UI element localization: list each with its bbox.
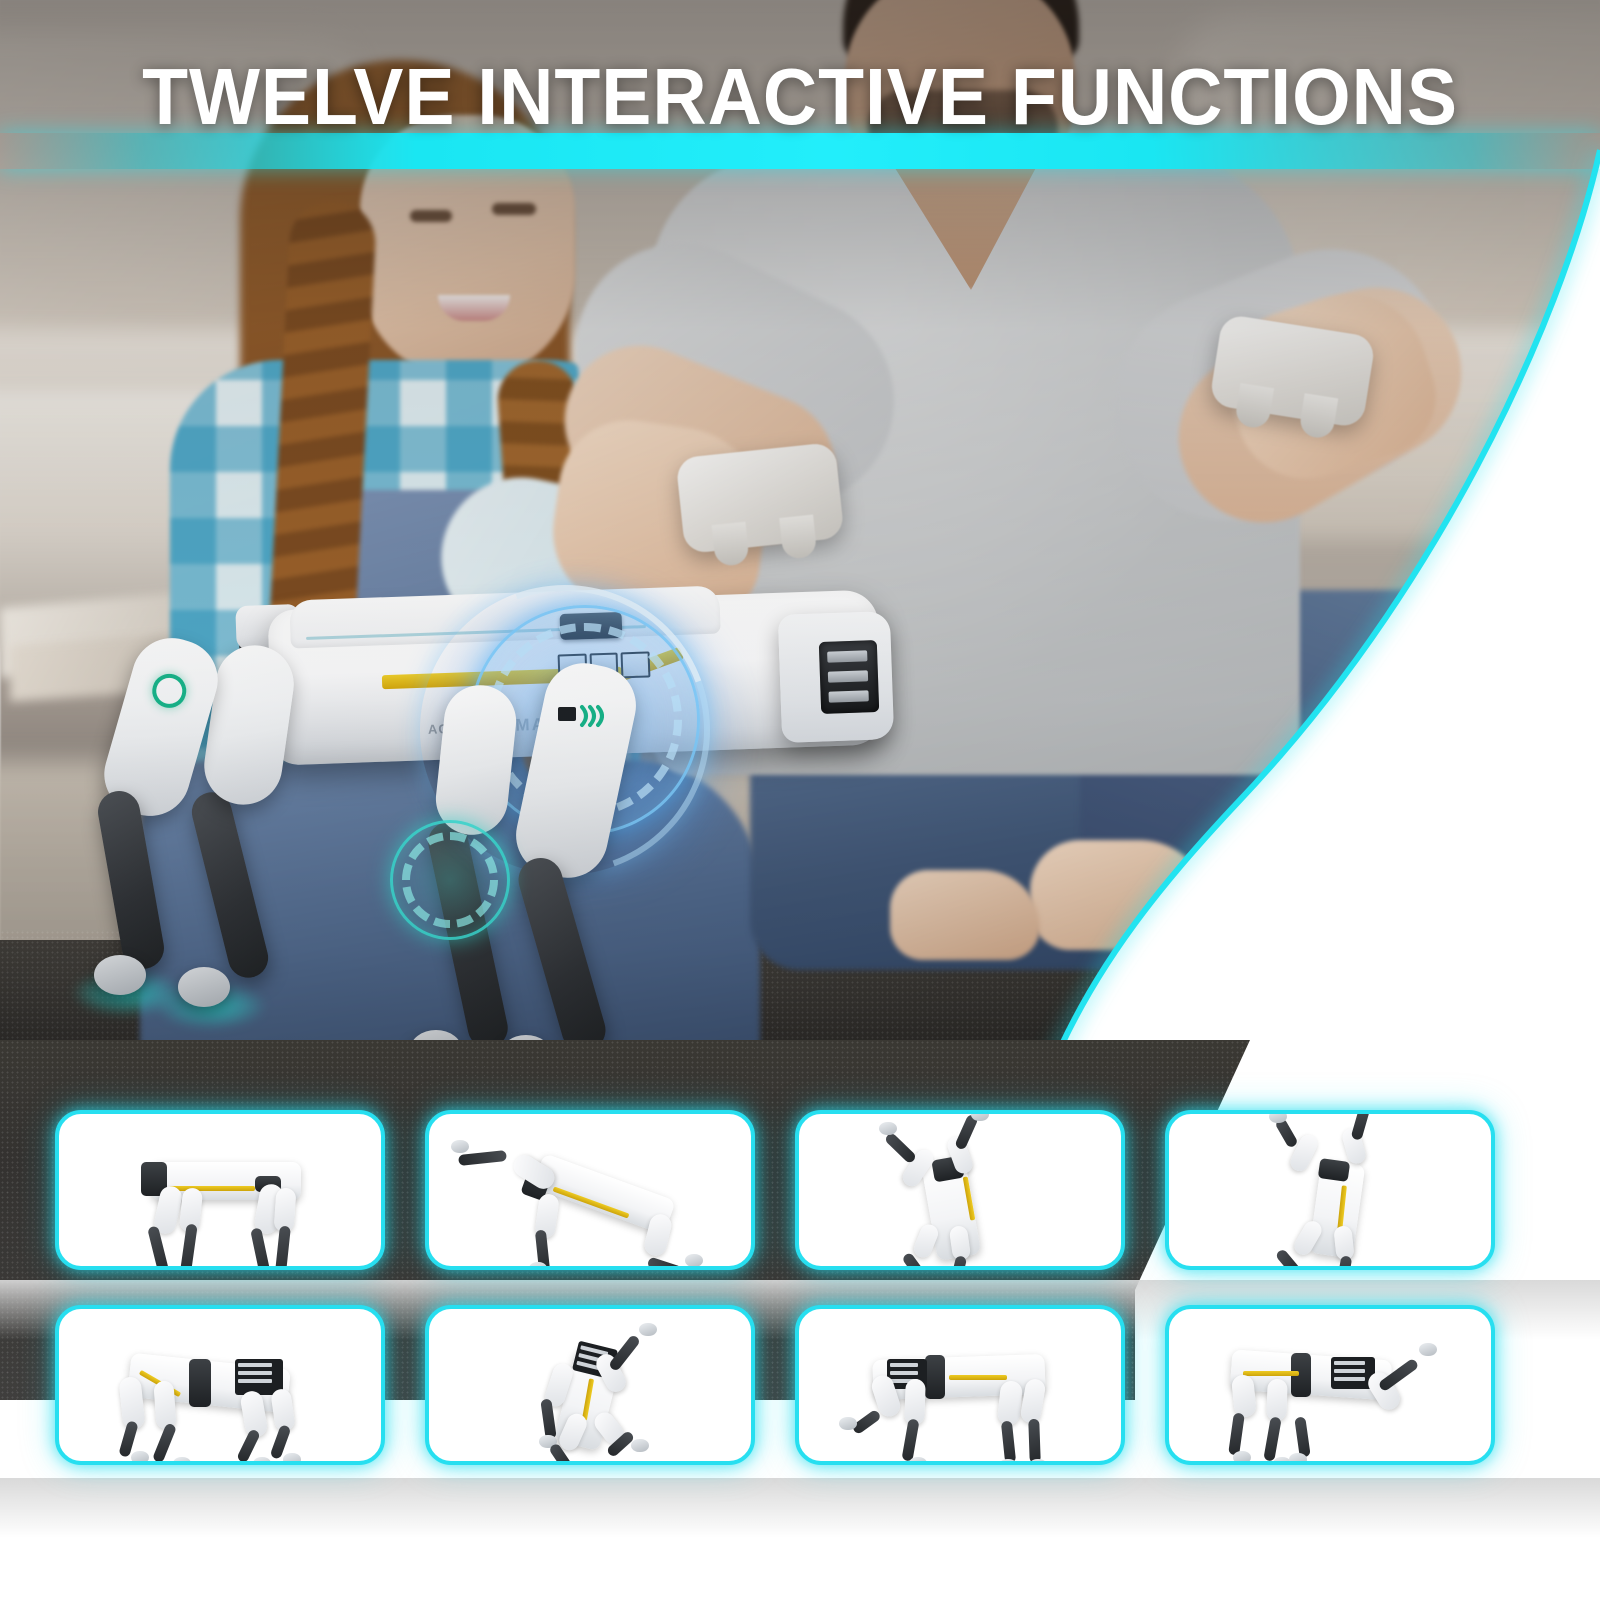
thumbnail-card-standing[interactable]: [55, 1110, 385, 1270]
thumbnail-grid: [0, 1110, 1600, 1510]
man-foot-one: [1030, 840, 1210, 950]
robot-pose-bowing: [429, 1114, 751, 1266]
thumbnail-card-rearing[interactable]: [795, 1110, 1125, 1270]
foot-front-left: [94, 955, 146, 995]
girl-eye-right: [492, 203, 536, 215]
thumbnail-card-leg-kick[interactable]: [1165, 1305, 1495, 1465]
thumbnail-card-sitting-up[interactable]: [425, 1305, 755, 1465]
status-indicator-icon: [148, 670, 190, 712]
product-feature-banner: ACCBKHH ▪ MACHINE: [0, 0, 1600, 1600]
girl-eye-left: [410, 210, 452, 222]
robot-pose-crouching: [59, 1309, 381, 1461]
thumbnail-card-crouching[interactable]: [55, 1305, 385, 1465]
robot-pose-standing: [59, 1114, 381, 1266]
remote-controller-girl: [675, 442, 844, 554]
leg-lower-rear-left: [188, 788, 273, 982]
thumbnail-card-handstand[interactable]: [1165, 1110, 1495, 1270]
thumbnail-card-bowing[interactable]: [425, 1110, 755, 1270]
robot-face-display: [819, 640, 879, 714]
man-foot-two: [890, 870, 1040, 960]
robot-dog-hero: ACCBKHH ▪ MACHINE: [90, 575, 890, 1105]
robot-pose-walking: [799, 1309, 1121, 1461]
robot-pose-sitting-up: [429, 1309, 751, 1461]
foot-rear-left: [178, 967, 230, 1007]
robot-leg-logo-icon: [558, 701, 604, 733]
hud-dashes-small: [402, 832, 498, 928]
thumbnail-card-walking[interactable]: [795, 1305, 1125, 1465]
page-title: TWELVE INTERACTIVE FUNCTIONS: [48, 57, 1552, 137]
robot-pose-rearing: [799, 1114, 1121, 1266]
robot-pose-handstand: [1169, 1114, 1491, 1266]
robot-pose-leg-kick: [1169, 1309, 1491, 1461]
